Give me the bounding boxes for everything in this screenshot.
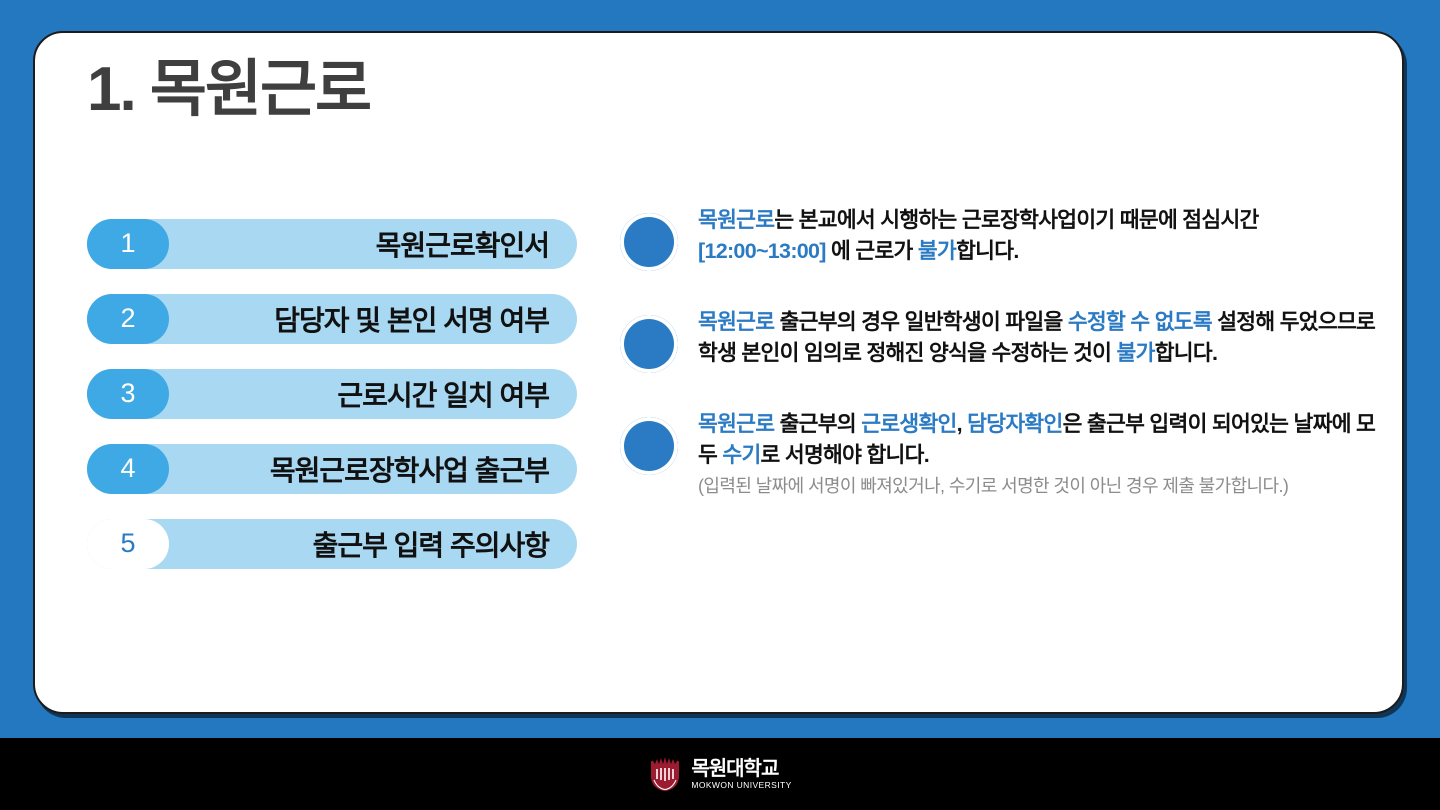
bullet-plain: 에 근로가 [826,239,918,263]
nav-item-badge: 1 [87,219,169,269]
bullet-highlight: 담당자확인 [967,412,1062,436]
bullet-circle-icon [620,213,678,271]
mokwon-university-logo: 목원대학교 MOKWON UNIVERSITY [648,756,791,792]
bullet-plain: 는 본교에서 시행하는 근로장학사업이기 때문에 점심시간 [774,208,1258,232]
nav-item-number: 5 [120,530,135,559]
bullet-row: 목원근로 출근부의 경우 일반학생이 파일을 수정할 수 없도록 설정해 두었으… [588,307,1378,381]
nav-item-badge: 4 [87,444,169,494]
bullet-text: 목원근로 출근부의 근로생확인, 담당자확인은 출근부 입력이 되어있는 날짜에… [698,409,1378,499]
nav-item-1[interactable]: 1목원근로확인서 [87,219,577,269]
bullet-highlight: 목원근로 [698,412,774,436]
nav-item-badge: 3 [87,369,169,419]
bullet-circle-icon [620,315,678,373]
nav-item-2[interactable]: 2담당자 및 본인 서명 여부 [87,294,577,344]
slide-card: 1. 목원근로 1목원근로확인서2담당자 및 본인 서명 여부3근로시간 일치 … [33,31,1404,714]
nav-list: 1목원근로확인서2담당자 및 본인 서명 여부3근로시간 일치 여부4목원근로장… [87,219,577,594]
nav-item-label: 근로시간 일치 여부 [337,369,549,419]
logo-korean-text: 목원대학교 [691,759,791,779]
nav-item-number: 4 [120,455,135,484]
nav-item-number: 1 [120,230,135,259]
bullet-plain: 출근부의 [774,412,861,436]
nav-item-3[interactable]: 3근로시간 일치 여부 [87,369,577,419]
page-title: 1. 목원근로 [87,59,370,121]
bullet-highlight: 수정할 수 없도록 [1068,310,1212,334]
nav-item-4[interactable]: 4목원근로장학사업 출근부 [87,444,577,494]
bullet-highlight: 목원근로 [698,310,774,334]
bullet-plain: 합니다. [956,239,1019,263]
bullet-text: 목원근로 출근부의 경우 일반학생이 파일을 수정할 수 없도록 설정해 두었으… [698,307,1378,368]
nav-item-number: 2 [120,305,135,334]
nav-item-badge: 5 [87,519,169,569]
nav-item-label: 목원근로확인서 [376,219,549,269]
nav-item-label: 담당자 및 본인 서명 여부 [274,294,549,344]
bullet-highlight: 목원근로 [698,208,774,232]
bullet-highlight: [12:00~13:00] [698,239,826,263]
bullet-plain: , [957,412,968,436]
bullet-highlight: 불가 [1117,341,1155,365]
bullet-circle-icon [620,417,678,475]
bullet-row: 목원근로는 본교에서 시행하는 근로장학사업이기 때문에 점심시간 [12:00… [588,205,1378,279]
bullet-note: (입력된 날짜에 서명이 빠져있거나, 수기로 서명한 것이 아닌 경우 제출 … [698,473,1378,499]
nav-item-label: 목원근로장학사업 출근부 [270,444,549,494]
nav-item-number: 3 [120,380,135,409]
crest-icon [648,756,682,792]
footer-bar: 목원대학교 MOKWON UNIVERSITY [0,738,1440,810]
bullet-highlight: 근로생확인 [861,412,956,436]
nav-item-badge: 2 [87,294,169,344]
bullet-text: 목원근로는 본교에서 시행하는 근로장학사업이기 때문에 점심시간 [12:00… [698,205,1378,266]
bullet-plain: 합니다. [1155,341,1218,365]
nav-item-5[interactable]: 5출근부 입력 주의사항 [87,519,577,569]
logo-wordmark: 목원대학교 MOKWON UNIVERSITY [691,759,791,790]
bullet-plain: 출근부의 경우 일반학생이 파일을 [774,310,1068,334]
bullet-highlight: 불가 [918,239,956,263]
bullet-plain: 로 서명해야 합니다. [761,443,929,467]
bullet-list: 목원근로는 본교에서 시행하는 근로장학사업이기 때문에 점심시간 [12:00… [588,205,1378,527]
bullet-highlight: 수기 [722,443,760,467]
bullet-row: 목원근로 출근부의 근로생확인, 담당자확인은 출근부 입력이 되어있는 날짜에… [588,409,1378,499]
nav-item-label: 출근부 입력 주의사항 [313,519,549,569]
logo-english-text: MOKWON UNIVERSITY [691,781,791,790]
